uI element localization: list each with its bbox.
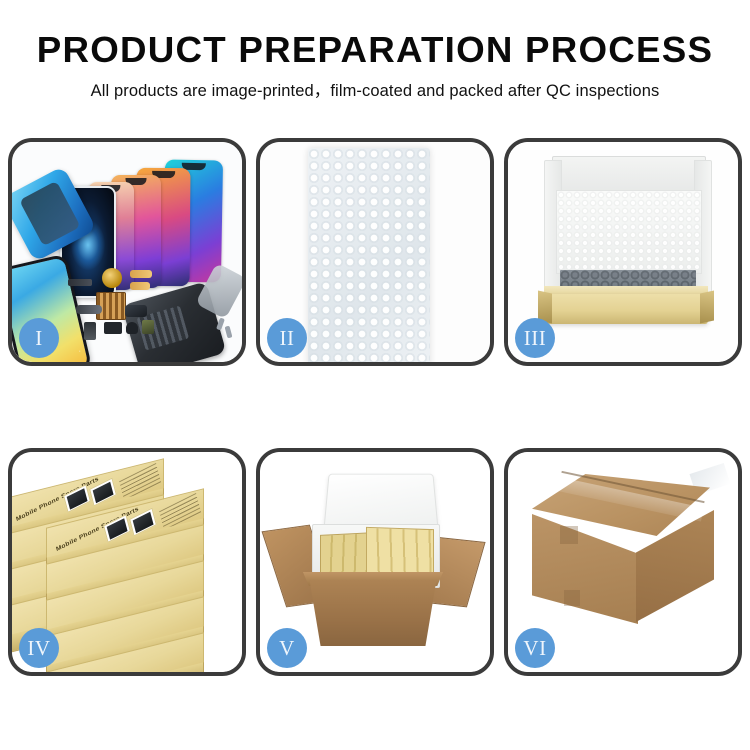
page-header: PRODUCT PREPARATION PROCESS All products… bbox=[0, 0, 750, 101]
carton-tab-icon bbox=[560, 526, 578, 544]
step-badge-1: I bbox=[19, 318, 59, 358]
battery-part-icon bbox=[84, 322, 96, 340]
process-step-panel-4[interactable]: Mobile Phone Spare Parts bbox=[8, 448, 246, 676]
process-step-panel-1[interactable]: I bbox=[8, 138, 246, 366]
carton-tab-icon bbox=[564, 590, 580, 606]
camera-module-part-icon bbox=[125, 305, 147, 317]
ic-chip-part-icon bbox=[142, 320, 154, 334]
step-badge-5: V bbox=[267, 628, 307, 668]
step-badge-6: VI bbox=[515, 628, 555, 668]
white-foam-sheet-icon bbox=[556, 190, 702, 274]
flex-cable-part-icon bbox=[130, 282, 150, 290]
vibrator-part-icon bbox=[126, 322, 138, 334]
process-step-grid: I II III bbox=[8, 138, 742, 676]
speaker-part-icon bbox=[104, 322, 122, 334]
step-badge-3: III bbox=[515, 318, 555, 358]
process-step-panel-6[interactable]: VI bbox=[504, 448, 742, 676]
page-title: PRODUCT PREPARATION PROCESS bbox=[0, 30, 750, 70]
ribbon-cable-part-icon bbox=[76, 305, 102, 314]
bubble-wrap-icon bbox=[308, 148, 430, 362]
step-badge-2: II bbox=[267, 318, 307, 358]
process-step-panel-5[interactable]: V bbox=[256, 448, 494, 676]
carton-body-icon bbox=[304, 580, 442, 646]
gold-box-front-icon bbox=[544, 294, 708, 324]
page-subtitle: All products are image-printed，film-coat… bbox=[0, 82, 750, 102]
step-badge-4: IV bbox=[19, 628, 59, 668]
process-step-panel-3[interactable]: III bbox=[504, 138, 742, 366]
connector-bar-part-icon bbox=[68, 279, 92, 286]
copper-coil-part-icon bbox=[102, 268, 122, 288]
process-step-panel-2[interactable]: II bbox=[256, 138, 494, 366]
box-corner-right-icon bbox=[700, 291, 714, 324]
flex-cable-part-icon bbox=[130, 270, 152, 278]
